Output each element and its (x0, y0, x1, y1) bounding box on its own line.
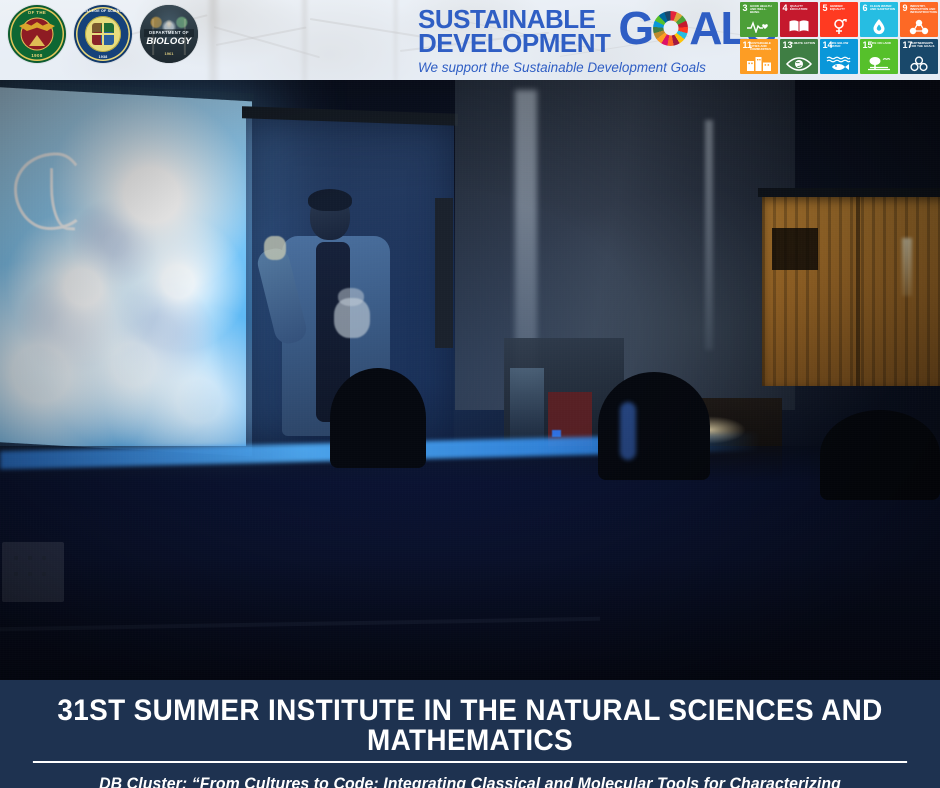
event-photo (0, 80, 940, 680)
sdg-goals-g: G (618, 7, 652, 50)
open-book-icon (780, 18, 818, 35)
sdg-tile-6-title: CLEAN WATER AND SANITATION (870, 5, 896, 12)
sdg-tile-14: 14 LIFE BELOW WATER (820, 39, 858, 74)
wall-outlet (2, 542, 64, 602)
sdg-tile-4: 4 QUALITY EDUCATION (780, 2, 818, 37)
audience-silhouette (598, 372, 710, 480)
fish-waves-icon (820, 55, 858, 72)
audience-silhouette (330, 368, 426, 468)
sdg-tile-4-number: 4 (783, 4, 788, 13)
sdg-wordmark: SUSTAINABLE DEVELOPMENT G ALS We support… (418, 7, 775, 75)
poster-footer: 31ST SUMMER INSTITUTE IN THE NATURAL SCI… (0, 680, 940, 788)
interlocked-rings-icon (900, 55, 938, 72)
sdg-goal-tiles: 3 GOOD HEALTH AND WELL-BEING 4 QUALITY E… (740, 2, 938, 74)
sdg-color-wheel-icon (653, 11, 688, 46)
event-subtitle: DB Cluster: “From Cultures to Code: Inte… (76, 774, 863, 788)
sdg-tile-4-title: QUALITY EDUCATION (790, 5, 816, 12)
up-seal-year: 1908 (8, 53, 66, 58)
institution-logos: OF THE 1908 COLLEGE OF SCIENCE 1938 (8, 5, 198, 63)
orange-curtains (762, 196, 940, 386)
event-poster: OF THE 1908 COLLEGE OF SCIENCE 1938 (0, 0, 940, 788)
sdg-tile-6: 6 CLEAN WATER AND SANITATION (860, 2, 898, 37)
poster-header: OF THE 1908 COLLEGE OF SCIENCE 1938 (0, 0, 940, 80)
cs-seal-top-text: COLLEGE OF SCIENCE (74, 9, 132, 13)
sdg-tile-3-number: 3 (743, 4, 748, 13)
sdg-tile-15: 15 LIFE ON LAND (860, 39, 898, 74)
up-baguio-college-of-science-logo: COLLEGE OF SCIENCE 1938 (74, 5, 132, 63)
gender-equality-icon (820, 18, 858, 35)
bio-badge-line1: DEPARTMENT OF (140, 30, 198, 35)
sdg-word-development: DEVELOPMENT (418, 31, 610, 55)
sdg-tile-11-title: SUSTAINABLE CITIES AND COMMUNITIES (750, 42, 776, 52)
sdg-tagline: We support the Sustainable Development G… (418, 60, 775, 75)
sdg-tile-5-number: 5 (823, 4, 828, 13)
sdg-tile-9: 9 INDUSTRY, INNOVATION AND INFRASTRUCTUR… (900, 2, 938, 37)
sdg-tile-9-title: INDUSTRY, INNOVATION AND INFRASTRUCTURE (910, 5, 936, 15)
sdg-tile-13: 13 CLIMATE ACTION (780, 39, 818, 74)
sdg-tile-3: 3 GOOD HEALTH AND WELL-BEING (740, 2, 778, 37)
sdg-tile-15-title: LIFE ON LAND (870, 42, 896, 45)
bio-badge-year: 1961 (140, 51, 198, 56)
foreground-desk (0, 446, 940, 680)
event-title: 31ST SUMMER INSTITUTE IN THE NATURAL SCI… (33, 680, 907, 763)
sdg-tile-5: 5 GENDER EQUALITY (820, 2, 858, 37)
sdg-tile-9-number: 9 (903, 4, 908, 13)
cs-seal-year: 1938 (74, 55, 132, 59)
up-seal-logo: OF THE 1908 (8, 5, 66, 63)
sdg-tile-17-title: PARTNERSHIPS FOR THE GOALS (910, 42, 936, 49)
sdg-tile-14-title: LIFE BELOW WATER (830, 42, 856, 49)
bio-badge-line2: BIOLOGY (140, 36, 198, 47)
water-drop-icon (860, 18, 898, 35)
eye-earth-icon (780, 55, 818, 72)
department-of-biology-logo: DEPARTMENT OF BIOLOGY 1961 (140, 5, 198, 63)
heartbeat-icon (740, 18, 778, 35)
sdg-tile-13-title: CLIMATE ACTION (790, 42, 816, 45)
sdg-tile-5-title: GENDER EQUALITY (830, 5, 856, 12)
up-seal-top-text: OF THE (8, 10, 66, 15)
blocks-icon (900, 18, 938, 35)
sdg-tile-11: 11 SUSTAINABLE CITIES AND COMMUNITIES (740, 39, 778, 74)
city-buildings-icon (740, 55, 778, 72)
sdg-tile-17: 17 PARTNERSHIPS FOR THE GOALS (900, 39, 938, 74)
projection-screen-microscopy (0, 87, 252, 457)
sdg-tile-6-number: 6 (863, 4, 868, 13)
tree-birds-icon (860, 55, 898, 72)
audience-silhouette (820, 410, 940, 500)
sdg-tile-3-title: GOOD HEALTH AND WELL-BEING (750, 5, 776, 15)
